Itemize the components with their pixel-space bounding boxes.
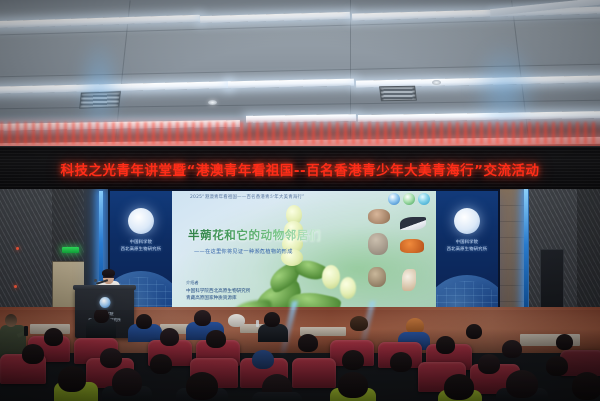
slide-logo-row	[388, 193, 430, 205]
blue-led-strip-right	[524, 189, 528, 313]
ceiling	[0, 0, 600, 146]
panel-right-line1: 中国科学院	[436, 239, 498, 245]
animal-bird	[368, 267, 386, 287]
led-banner-text: 科技之光青年讲堂暨“港澳青年看祖国--百名香港青少年大美青海行”交流活动	[61, 159, 540, 179]
plant-floret	[340, 277, 356, 299]
teal-wave-logo-icon	[418, 193, 430, 205]
indicator-light	[14, 285, 17, 288]
slide-credit-block: 介绍者 中国科学院西北高原生物研究所 青藏高原国家种质资源库	[186, 279, 250, 302]
blue-emblem-logo-icon	[388, 193, 400, 205]
panel-left-line1: 中国科学院	[110, 239, 172, 245]
microphone-head	[94, 279, 97, 282]
recessed-spotlight	[432, 80, 441, 85]
slide-affiliation-2: 青藏高原国家种质资源库	[186, 295, 250, 302]
speaker-hair	[102, 269, 115, 277]
green-leaf-logo-icon	[403, 193, 415, 205]
animal-mouse	[368, 209, 390, 224]
panel-orb-icon	[128, 208, 154, 234]
animal-bird	[402, 269, 416, 291]
animal-fox	[400, 239, 424, 253]
podium-top	[73, 285, 136, 290]
academy-emblem-logo-icon	[99, 297, 110, 308]
panel-left-line2: 西北高原生物研究所	[110, 246, 172, 252]
slide-title: 半蒴花和它的动物邻居们	[188, 227, 321, 243]
ceiling-light	[0, 15, 200, 29]
acoustic-wall-far-right	[577, 189, 600, 315]
audience-shading	[0, 310, 600, 401]
air-vent	[379, 86, 417, 102]
slide-subtitle: ——在这里你将见证一种濒危植物的形成	[194, 248, 293, 255]
screen-side-panel-right: 中国科学院 西北高原生物研究所	[436, 191, 498, 321]
slide-header-text: 2025“港澳青年看祖国——百名香港青少年大美青海行”	[190, 194, 380, 200]
panel-orb-icon	[454, 208, 480, 234]
ceiling-light	[228, 79, 354, 89]
slide-speaker-name: 介绍者	[186, 279, 250, 286]
panel-right-line2: 西北高原生物研究所	[436, 246, 498, 252]
presentation-slide: 2025“港澳青年看祖国——百名香港青少年大美青海行” 半蒴花和它的动物邻居们 …	[172, 191, 436, 321]
animal-magpie	[400, 217, 426, 230]
wood-panel-right	[496, 189, 526, 321]
projection-screen-assembly: 中国科学院 西北高原生物研究所 中国科学院 西北高原生物研究所	[108, 189, 500, 323]
led-banner: 科技之光青年讲堂暨“港澳青年看祖国--百名香港青少年大美青海行”交流活动	[0, 146, 600, 191]
acoustic-wall-left	[0, 189, 52, 321]
slide-affiliation-1: 中国科学院西北高原生物研究所	[186, 288, 250, 295]
audience-area	[0, 310, 600, 401]
led-banner-reflection-dots	[0, 122, 600, 144]
auditorium-photo: 科技之光青年讲堂暨“港澳青年看祖国--百名香港青少年大美青海行”交流活动 中国科…	[0, 0, 600, 401]
plant-floret	[322, 265, 340, 289]
animal-hare	[368, 233, 388, 255]
indicator-light	[16, 247, 19, 250]
ceiling-light	[200, 12, 350, 23]
exit-sign	[62, 247, 79, 253]
recessed-spotlight	[208, 100, 217, 105]
